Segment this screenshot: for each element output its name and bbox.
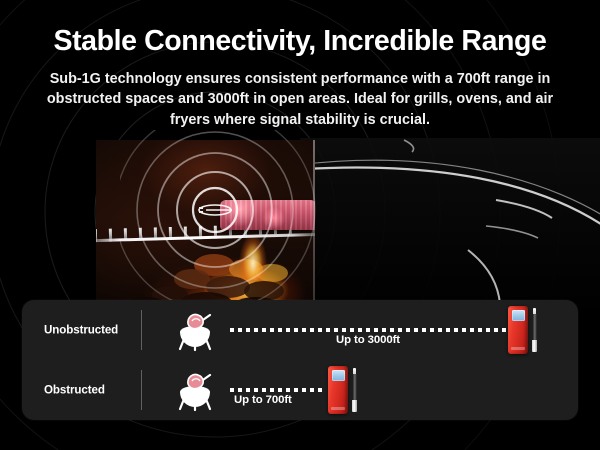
range-dotted-line-obstructed <box>230 388 326 392</box>
table-row: Unobstructed Up to 3000ft <box>22 300 578 360</box>
page-title: Stable Connectivity, Incredible Range <box>18 26 582 58</box>
row-label-unobstructed: Unobstructed <box>44 324 118 337</box>
grill-lid-silhouette <box>300 138 600 318</box>
row-label-obstructed: Obstructed <box>44 384 105 397</box>
grill-icon <box>174 368 216 412</box>
row-divider <box>141 370 142 410</box>
page-subtitle: Sub-1G technology ensures consistent per… <box>40 69 560 130</box>
device-probe <box>532 308 537 352</box>
device-probe <box>352 368 357 412</box>
range-comparison-panel: Unobstructed Up to 3000ft <box>22 300 578 420</box>
device-screen <box>332 370 345 381</box>
device-screen <box>512 310 525 321</box>
row-divider <box>141 310 142 350</box>
distance-label-obstructed: Up to 700ft <box>234 394 292 406</box>
hero-text-block: Stable Connectivity, Incredible Range Su… <box>0 26 600 130</box>
promo-banner: Stable Connectivity, Incredible Range Su… <box>0 0 600 450</box>
distance-label-unobstructed: Up to 3000ft <box>336 334 400 346</box>
photo-right-edge <box>313 140 315 315</box>
steak <box>220 200 315 230</box>
range-dotted-line-unobstructed <box>230 328 518 332</box>
device-brand-mark <box>511 347 525 350</box>
table-row: Obstructed Up to 700ft <box>22 360 578 420</box>
thermometer-device-icon <box>328 366 362 414</box>
device-case <box>328 366 348 414</box>
grill-photo <box>96 140 315 315</box>
thermometer-device-icon <box>508 306 542 354</box>
grill-icon <box>174 308 216 352</box>
device-brand-mark <box>331 407 345 410</box>
device-case <box>508 306 528 354</box>
